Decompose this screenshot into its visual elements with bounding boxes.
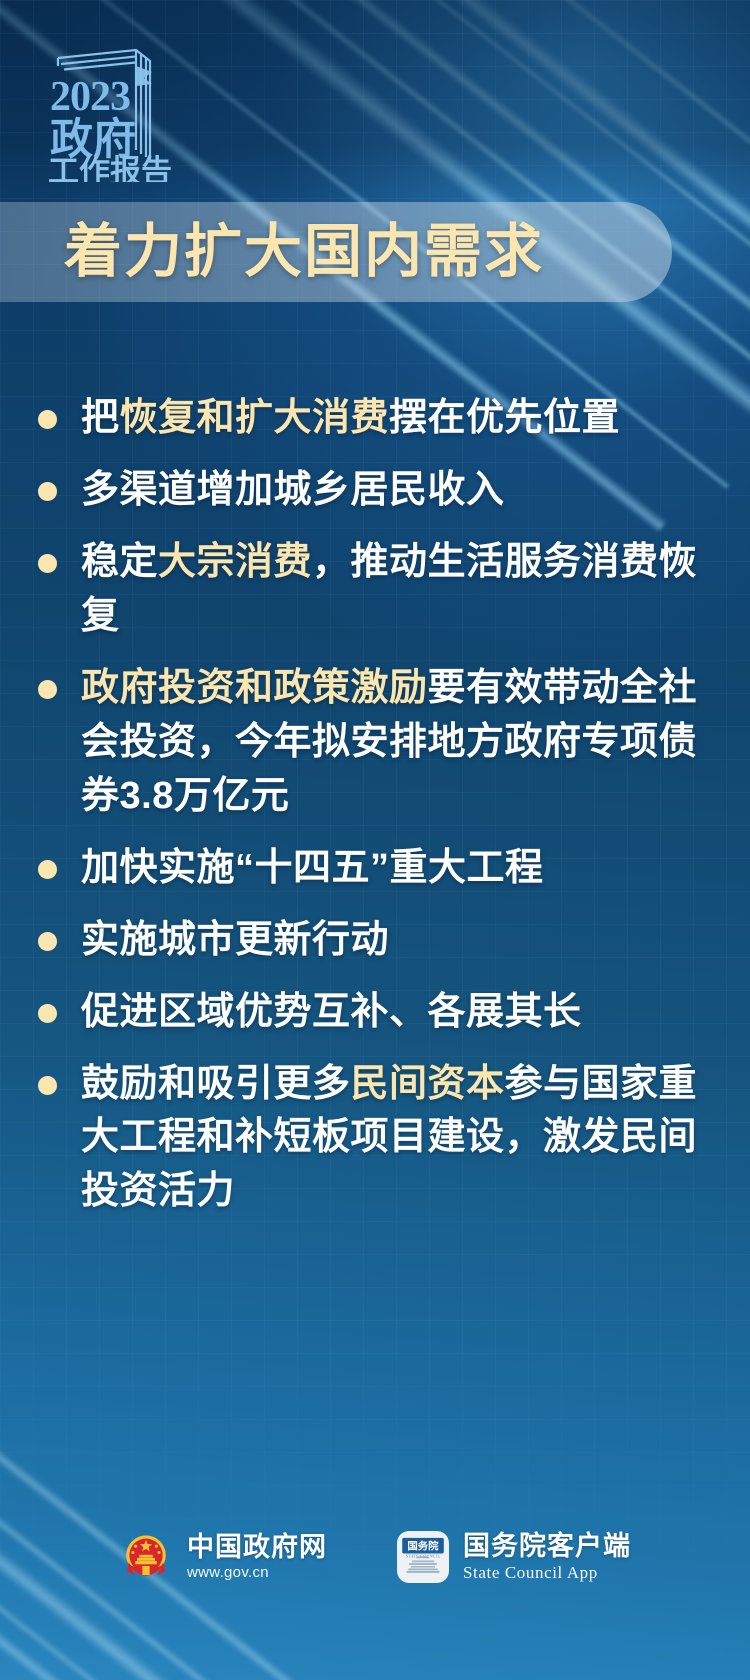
bullet-item-text: 实施城市更新行动 [81,914,718,968]
bullet-item: 鼓励和吸引更多民间资本参与国家重大工程和补短板项目建设，激发民间投资活力 [38,1058,718,1220]
poster-root: 2023 政府 工作报告 着力扩大国内需求 把恢复和扩大消费摆在优先位置多渠道增… [0,0,750,1680]
bullet-item-text: 促进区域优势互补、各展其长 [81,986,718,1040]
bullet-item-text: 鼓励和吸引更多民间资本参与国家重大工程和补短板项目建设，激发民间投资活力 [81,1058,718,1220]
bullet-item: 加快实施“十四五”重大工程 [38,842,718,896]
national-emblem-icon [119,1530,173,1584]
plain-phrase: 把 [81,397,120,439]
book-icon: 2023 政府 工作报告 [40,42,190,182]
gov-cn-name: 中国政府网 [187,1532,327,1562]
bullet-item: 多渠道增加城乡居民收入 [38,464,718,518]
bullet-item-text: 稳定大宗消费，推动生活服务消费恢复 [81,536,718,644]
bullet-item-text: 把恢复和扩大消费摆在优先位置 [81,392,718,446]
state-council-app-name: 国务院客户端 [463,1531,631,1561]
brand-logo: 2023 政府 工作报告 [40,42,190,182]
bullet-dot-icon [38,482,57,501]
bullet-item-text: 政府投资和政策激励要有效带动全社会投资，今年拟安排地方政府专项债券3.8万亿元 [81,662,718,824]
state-council-app-icon: 国务院 STATE COUNCIL [397,1531,449,1583]
bullet-item: 实施城市更新行动 [38,914,718,968]
bullet-dot-icon [38,680,57,699]
highlighted-phrase: 政府投资和政策激励 [81,667,428,709]
title-badge: 着力扩大国内需求 [0,202,672,302]
plain-phrase: 鼓励和吸引更多 [81,1063,351,1105]
bullet-dot-icon [38,1004,57,1023]
state-council-app-text: 国务院客户端 State Council App [463,1531,631,1584]
plain-phrase: 稳定 [81,541,158,583]
highlighted-phrase: 恢复和扩大消费 [120,397,390,439]
bullet-item-text: 加快实施“十四五”重大工程 [81,842,718,896]
bullet-item-text: 多渠道增加城乡居民收入 [81,464,718,518]
bullet-dot-icon [38,554,57,573]
svg-text:2023: 2023 [50,74,130,120]
state-council-app-subtitle: State Council App [463,1563,631,1583]
plain-phrase: 加快实施“十四五”重大工程 [81,847,544,889]
bullet-item: 稳定大宗消费，推动生活服务消费恢复 [38,536,718,644]
bullet-item: 把恢复和扩大消费摆在优先位置 [38,392,718,446]
plain-phrase: 多渠道增加城乡居民收入 [81,469,505,511]
state-council-app-logo[interactable]: 国务院 STATE COUNCIL 国务院客户端 State Council A… [397,1531,631,1584]
gov-cn-logo[interactable]: 中国政府网 www.gov.cn [119,1530,327,1584]
bullet-item: 政府投资和政策激励要有效带动全社会投资，今年拟安排地方政府专项债券3.8万亿元 [38,662,718,824]
plain-phrase: 摆在优先位置 [389,397,620,439]
svg-text:工作报告: 工作报告 [48,154,172,182]
bullet-dot-icon [38,1076,57,1095]
bullet-dot-icon [38,932,57,951]
highlighted-phrase: 大宗消费 [158,541,312,583]
footer-logos: 中国政府网 www.gov.cn 国务院 STATE COUNCIL [0,1530,750,1584]
gov-cn-text: 中国政府网 www.gov.cn [187,1532,327,1582]
highlighted-phrase: 民间资本 [351,1063,505,1105]
plain-phrase: 促进区域优势互补、各展其长 [81,991,582,1033]
bullet-item: 促进区域优势互补、各展其长 [38,986,718,1040]
gov-cn-url: www.gov.cn [187,1564,327,1582]
plain-phrase: 实施城市更新行动 [81,919,389,961]
bullet-dot-icon [38,860,57,879]
bullet-list: 把恢复和扩大消费摆在优先位置多渠道增加城乡居民收入稳定大宗消费，推动生活服务消费… [38,392,718,1237]
bullet-dot-icon [38,410,57,429]
svg-text:国务院: 国务院 [407,1540,439,1553]
page-title: 着力扩大国内需求 [64,223,544,281]
